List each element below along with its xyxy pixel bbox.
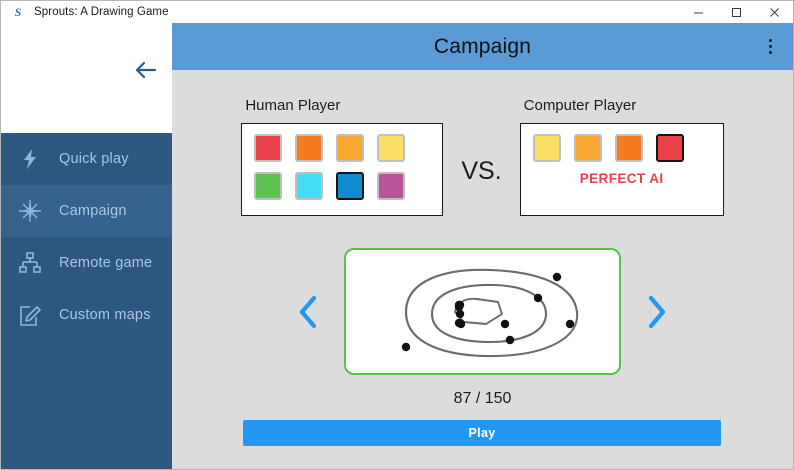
- color-swatch-green[interactable]: [254, 172, 282, 200]
- human-color-row-1: [254, 134, 430, 162]
- app-window: S Sprouts: A Drawing Game: [0, 0, 794, 470]
- sidebar-item-label: Remote game: [59, 255, 152, 271]
- play-button[interactable]: Play: [243, 420, 721, 446]
- sidebar-item-label: Custom maps: [59, 307, 151, 323]
- lightning-bolt-icon: [13, 142, 47, 176]
- back-arrow-icon[interactable]: [129, 53, 163, 87]
- human-color-row-2: [254, 172, 430, 200]
- back-panel: [1, 23, 172, 133]
- close-icon[interactable]: [755, 1, 793, 23]
- sidebar-item-label: Quick play: [59, 151, 129, 167]
- main-content: Human Player VS.: [172, 70, 793, 469]
- compass-star-icon: [13, 194, 47, 228]
- color-swatch-magenta[interactable]: [377, 172, 405, 200]
- page-header: Campaign: [172, 23, 793, 70]
- color-swatch-cyan[interactable]: [295, 172, 323, 200]
- color-swatch-blue[interactable]: [336, 172, 364, 200]
- title-bar: S Sprouts: A Drawing Game: [1, 1, 793, 23]
- chevron-right-icon[interactable]: [639, 289, 673, 335]
- sidebar-item-campaign[interactable]: Campaign: [1, 185, 172, 237]
- sidebar-item-label: Campaign: [59, 203, 127, 219]
- maximize-icon[interactable]: [717, 1, 755, 23]
- difficulty-swatch-medium[interactable]: [574, 134, 602, 162]
- color-swatch-amber[interactable]: [336, 134, 364, 162]
- computer-player-heading: Computer Player: [520, 97, 724, 114]
- sidebar-item-quick-play[interactable]: Quick play: [1, 133, 172, 185]
- color-swatch-red[interactable]: [254, 134, 282, 162]
- network-nodes-icon: [13, 246, 47, 280]
- pencil-square-icon: [13, 298, 47, 332]
- window-title: Sprouts: A Drawing Game: [34, 6, 169, 18]
- players-section: Human Player VS.: [172, 97, 793, 216]
- color-swatch-orange[interactable]: [295, 134, 323, 162]
- chevron-left-icon[interactable]: [292, 289, 326, 335]
- map-preview-graph: [346, 250, 619, 373]
- human-player-heading: Human Player: [241, 97, 443, 114]
- kebab-menu-icon[interactable]: [757, 23, 783, 70]
- difficulty-row: [533, 134, 711, 162]
- difficulty-level-label: PERFECT AI: [533, 171, 711, 186]
- map-preview-card[interactable]: [344, 248, 621, 375]
- sidebar: Quick play Campaign: [1, 133, 172, 469]
- difficulty-swatch-easy[interactable]: [533, 134, 561, 162]
- sidebar-item-remote-game[interactable]: Remote game: [1, 237, 172, 289]
- sprouts-s-icon: S: [7, 1, 29, 23]
- human-player-panel: Human Player: [241, 97, 443, 216]
- human-color-palette: [241, 123, 443, 216]
- computer-player-panel: Computer Player PERFECT AI: [520, 97, 724, 216]
- map-progress-label: 87 / 150: [172, 390, 793, 408]
- page-title: Campaign: [434, 35, 531, 59]
- computer-difficulty-palette: PERFECT AI: [520, 123, 724, 216]
- sidebar-item-custom-maps[interactable]: Custom maps: [1, 289, 172, 341]
- color-swatch-yellow[interactable]: [377, 134, 405, 162]
- difficulty-swatch-perfect[interactable]: [656, 134, 684, 162]
- vs-label: VS.: [461, 127, 501, 186]
- map-carousel: [172, 248, 793, 375]
- minimize-icon[interactable]: [679, 1, 717, 23]
- difficulty-swatch-hard[interactable]: [615, 134, 643, 162]
- window-controls: [679, 1, 793, 23]
